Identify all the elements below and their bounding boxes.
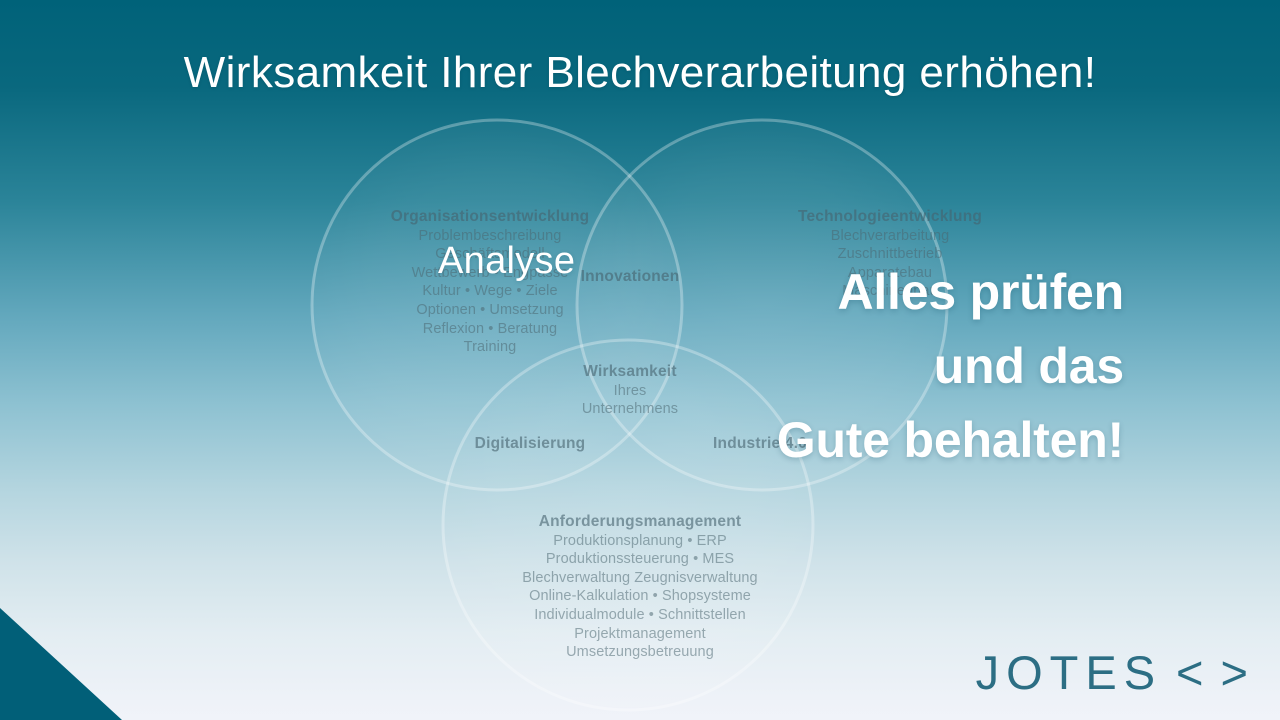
angle-brackets-icon: < >: [1176, 649, 1250, 696]
headline-line-1: Alles prüfen: [624, 255, 1124, 329]
venn-line: Produktionssteuerung • MES: [460, 550, 820, 569]
venn-line: Produktionsplanung • ERP: [460, 532, 820, 551]
overlay-label-analyse: Analyse: [438, 240, 575, 283]
venn-line: Training: [300, 338, 680, 357]
venn-line: Online-Kalkulation • Shopsysteme: [460, 587, 820, 606]
venn-line: Individualmodule • Schnittstellen: [460, 606, 820, 625]
logo-wordmark: JOTES: [976, 649, 1162, 696]
slide-canvas: Organisationsentwicklung Problembeschrei…: [0, 0, 1280, 720]
corner-triangle-accent: [0, 608, 122, 720]
venn-line: Reflexion • Beratung: [300, 320, 680, 339]
slide-title: Wirksamkeit Ihrer Blechverarbeitung erhö…: [0, 48, 1280, 98]
venn-line: Projektmanagement: [460, 625, 820, 644]
venn-line: Blechverarbeitung: [700, 227, 1080, 246]
venn-line: Optionen • Umsetzung: [300, 301, 680, 320]
venn-line: Blechverwaltung Zeugnisverwaltung: [460, 569, 820, 588]
headline-block: Alles prüfen und das Gute behalten!: [624, 255, 1124, 477]
headline-line-3: Gute behalten!: [624, 403, 1124, 477]
venn-heading-technologieentwicklung: Technologieentwicklung: [700, 207, 1080, 227]
jotes-logo: JOTES < >: [976, 649, 1250, 696]
venn-group-anforderungsmanagement: Anforderungsmanagement Produktionsplanun…: [460, 512, 820, 662]
venn-line: Umsetzungsbetreuung: [460, 643, 820, 662]
headline-line-2: und das: [624, 329, 1124, 403]
venn-heading-anforderungsmanagement: Anforderungsmanagement: [460, 512, 820, 532]
venn-heading-organisationsentwicklung: Organisationsentwicklung: [300, 207, 680, 227]
